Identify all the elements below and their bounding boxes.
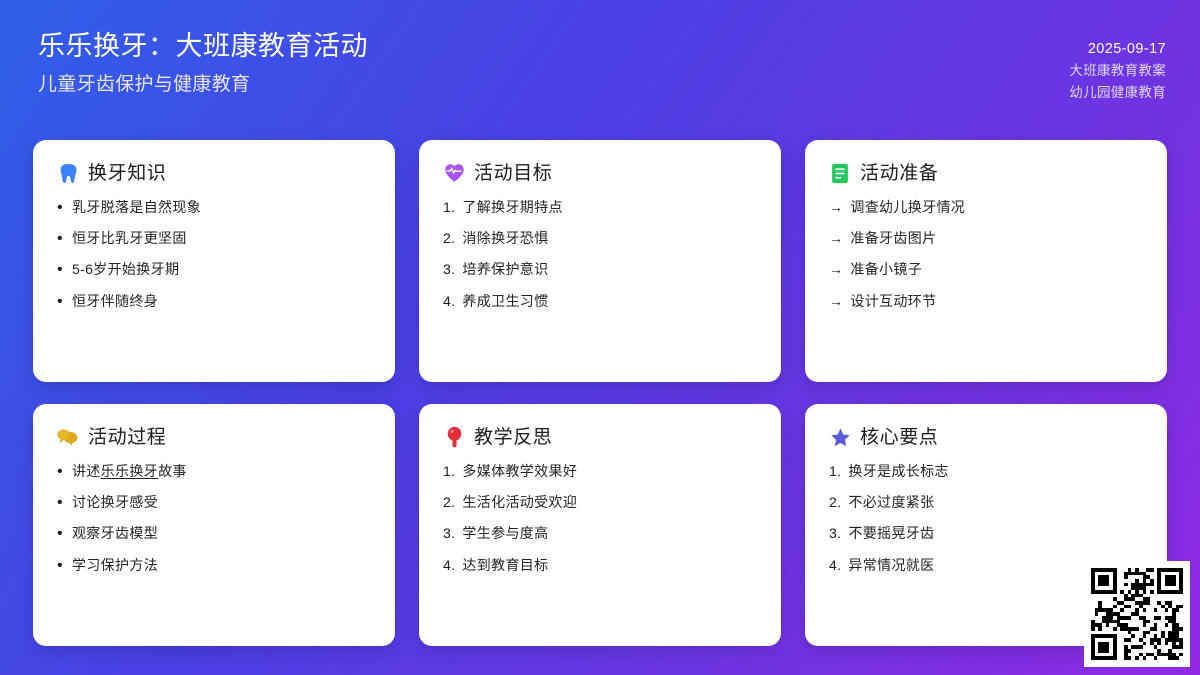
list-item-text: 不必过度紧张	[848, 493, 934, 511]
card-title: 活动过程	[88, 428, 166, 447]
list-item-text: 消除换牙恐惧	[462, 229, 548, 247]
list-item: 3.不要摇晃牙齿	[829, 524, 1143, 542]
list-marker: •	[57, 464, 63, 480]
list-item-text: 不要摇晃牙齿	[848, 524, 934, 542]
header-meta-line-1: 大班康教育教案	[1069, 60, 1166, 82]
list-marker: 4.	[829, 556, 841, 574]
list-item: 1.了解换牙期特点	[443, 198, 757, 216]
card-grid: 换牙知识•乳牙脱落是自然现象•恒牙比乳牙更坚固•5-6岁开始换牙期•恒牙伴随终身…	[33, 140, 1167, 646]
card-list: 1.了解换牙期特点2.消除换牙恐惧3.培养保护意识4.养成卫生习惯	[443, 198, 757, 310]
qr-code-pattern	[1091, 568, 1183, 660]
speech-bubbles-icon	[57, 426, 79, 448]
list-marker: 1.	[829, 462, 841, 480]
card-1: 换牙知识•乳牙脱落是自然现象•恒牙比乳牙更坚固•5-6岁开始换牙期•恒牙伴随终身	[33, 140, 395, 382]
page-subtitle: 儿童牙齿保护与健康教育	[38, 73, 368, 98]
list-marker: →	[829, 229, 843, 247]
card-3: 活动准备→调查幼儿换牙情况→准备牙齿图片→准备小镜子→设计互动环节	[805, 140, 1167, 382]
list-item: 3.学生参与度高	[443, 524, 757, 542]
book-icon	[829, 162, 851, 184]
tooth-icon	[57, 162, 79, 184]
list-item-text: 准备牙齿图片	[850, 229, 936, 247]
list-item-text: 生活化活动受欢迎	[462, 493, 577, 511]
emphasized-text: 乐乐换牙	[101, 463, 158, 479]
card-title: 核心要点	[860, 428, 938, 447]
list-item: 1.多媒体教学效果好	[443, 462, 757, 480]
list-item: →准备牙齿图片	[829, 229, 1143, 247]
card-2: 活动目标1.了解换牙期特点2.消除换牙恐惧3.培养保护意识4.养成卫生习惯	[419, 140, 781, 382]
card-title: 教学反思	[474, 428, 552, 447]
list-item-text: 观察牙齿模型	[72, 524, 158, 542]
list-item: 2.消除换牙恐惧	[443, 229, 757, 247]
card-header: 活动目标	[443, 162, 757, 184]
list-item: •讲述乐乐换牙故事	[57, 462, 371, 480]
list-marker: 1.	[443, 462, 455, 480]
card-list: •讲述乐乐换牙故事•讨论换牙感受•观察牙齿模型•学习保护方法	[57, 462, 371, 574]
list-item-text: 5-6岁开始换牙期	[72, 260, 179, 278]
list-item-text: 换牙是成长标志	[848, 462, 948, 480]
list-item-text: 学习保护方法	[72, 556, 158, 574]
list-item-text: 学生参与度高	[462, 524, 548, 542]
list-item-text: 讲述乐乐换牙故事	[72, 462, 187, 480]
page-header: 乐乐换牙：大班康教育活动 儿童牙齿保护与健康教育 2025-09-17 大班康教…	[0, 0, 1200, 126]
list-marker: →	[829, 198, 843, 216]
card-title: 活动目标	[474, 164, 552, 183]
list-item-text: 达到教育目标	[462, 556, 548, 574]
list-item: •乳牙脱落是自然现象	[57, 198, 371, 216]
list-item-text: 调查幼儿换牙情况	[850, 198, 965, 216]
bulb-icon	[443, 426, 465, 448]
list-marker: •	[57, 200, 63, 216]
list-marker: 2.	[443, 229, 455, 247]
list-item: •观察牙齿模型	[57, 524, 371, 542]
list-item: •讨论换牙感受	[57, 493, 371, 511]
card-list: 1.换牙是成长标志2.不必过度紧张3.不要摇晃牙齿4.异常情况就医	[829, 462, 1143, 574]
list-marker: 2.	[443, 493, 455, 511]
list-item-text: 讨论换牙感受	[72, 493, 158, 511]
list-item-text: 设计互动环节	[850, 292, 936, 310]
qr-code[interactable]	[1084, 561, 1190, 667]
list-item-text: 多媒体教学效果好	[462, 462, 577, 480]
list-marker: •	[57, 495, 63, 511]
list-marker: →	[829, 260, 843, 278]
card-header: 活动过程	[57, 426, 371, 448]
list-marker: 3.	[443, 524, 455, 542]
card-header: 教学反思	[443, 426, 757, 448]
list-item-text: 恒牙比乳牙更坚固	[72, 229, 187, 247]
list-item: →准备小镜子	[829, 260, 1143, 278]
list-marker: •	[57, 558, 63, 574]
card-header: 换牙知识	[57, 162, 371, 184]
list-item: →设计互动环节	[829, 292, 1143, 310]
list-item-text: 异常情况就医	[848, 556, 934, 574]
list-item-text: 养成卫生习惯	[462, 292, 548, 310]
list-marker: 4.	[443, 556, 455, 574]
list-marker: •	[57, 262, 63, 278]
list-item: •恒牙伴随终身	[57, 292, 371, 310]
header-date: 2025-09-17	[1088, 38, 1166, 60]
list-item: 3.培养保护意识	[443, 260, 757, 278]
list-marker: 3.	[443, 260, 455, 278]
list-item: •学习保护方法	[57, 556, 371, 574]
card-header: 核心要点	[829, 426, 1143, 448]
list-item: 4.达到教育目标	[443, 556, 757, 574]
list-item: 4.养成卫生习惯	[443, 292, 757, 310]
list-marker: 2.	[829, 493, 841, 511]
list-item: →调查幼儿换牙情况	[829, 198, 1143, 216]
list-item: 2.生活化活动受欢迎	[443, 493, 757, 511]
card-header: 活动准备	[829, 162, 1143, 184]
card-list: 1.多媒体教学效果好2.生活化活动受欢迎3.学生参与度高4.达到教育目标	[443, 462, 757, 574]
page-title: 乐乐换牙：大班康教育活动	[38, 30, 368, 64]
star-icon	[829, 426, 851, 448]
list-item: •恒牙比乳牙更坚固	[57, 229, 371, 247]
card-4: 活动过程•讲述乐乐换牙故事•讨论换牙感受•观察牙齿模型•学习保护方法	[33, 404, 395, 646]
header-title-block: 乐乐换牙：大班康教育活动 儿童牙齿保护与健康教育	[38, 22, 368, 97]
list-item: •5-6岁开始换牙期	[57, 260, 371, 278]
list-marker: •	[57, 526, 63, 542]
list-item-text: 乳牙脱落是自然现象	[72, 198, 201, 216]
card-list: •乳牙脱落是自然现象•恒牙比乳牙更坚固•5-6岁开始换牙期•恒牙伴随终身	[57, 198, 371, 310]
card-list: →调查幼儿换牙情况→准备牙齿图片→准备小镜子→设计互动环节	[829, 198, 1143, 310]
list-item: 1.换牙是成长标志	[829, 462, 1143, 480]
list-marker: •	[57, 294, 63, 310]
list-item-text: 了解换牙期特点	[462, 198, 562, 216]
list-item: 2.不必过度紧张	[829, 493, 1143, 511]
list-marker: 1.	[443, 198, 455, 216]
list-marker: 3.	[829, 524, 841, 542]
header-meta-line-2: 幼儿园健康教育	[1069, 82, 1166, 104]
card-title: 换牙知识	[88, 164, 166, 183]
list-marker: →	[829, 292, 843, 310]
header-meta-block: 2025-09-17 大班康教育教案 幼儿园健康教育	[1069, 38, 1166, 104]
card-title: 活动准备	[860, 164, 938, 183]
list-item-text: 培养保护意识	[462, 260, 548, 278]
list-item-text: 恒牙伴随终身	[72, 292, 158, 310]
list-item-text: 准备小镜子	[850, 260, 922, 278]
list-marker: 4.	[443, 292, 455, 310]
card-5: 教学反思1.多媒体教学效果好2.生活化活动受欢迎3.学生参与度高4.达到教育目标	[419, 404, 781, 646]
heart-pulse-icon	[443, 162, 465, 184]
list-marker: •	[57, 231, 63, 247]
